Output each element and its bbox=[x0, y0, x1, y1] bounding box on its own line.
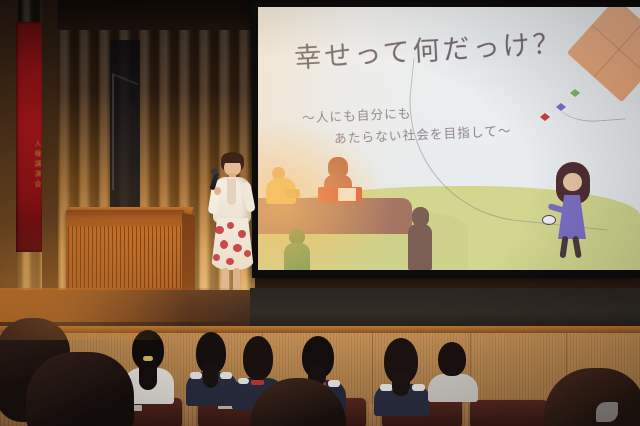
presenter-hair-front bbox=[221, 153, 244, 163]
presenter bbox=[203, 152, 259, 304]
curtain-valance bbox=[55, 0, 260, 30]
stage-floor-lit-area bbox=[0, 288, 250, 322]
audience-member bbox=[26, 352, 136, 426]
banner-text: 人権講演会 bbox=[16, 140, 42, 190]
presenter-floral-pattern bbox=[211, 220, 254, 270]
audience-member bbox=[250, 378, 348, 426]
presenter-lapel bbox=[227, 179, 236, 205]
auditorium-seat bbox=[470, 400, 548, 426]
vertical-banner: 人権講演会 bbox=[16, 22, 42, 252]
audience-member bbox=[378, 338, 424, 406]
presenter-hand bbox=[214, 187, 221, 195]
hair-clip bbox=[596, 402, 618, 422]
audience-member bbox=[544, 368, 640, 426]
audience-member bbox=[430, 342, 474, 396]
microphone-head bbox=[211, 168, 218, 175]
figure-reading-center bbox=[318, 157, 364, 211]
auditorium-photo: 人権講演会 bbox=[0, 0, 640, 426]
wall-pillar bbox=[42, 0, 58, 300]
stair-railing bbox=[112, 73, 138, 201]
podium-side-panel bbox=[182, 212, 195, 293]
projection-screen: 幸せって何だっけ？ 〜人にも自分にも あたらない社会を目指して〜 bbox=[258, 7, 640, 270]
stage-floor-shadowed bbox=[250, 288, 640, 328]
figure-silhouette bbox=[406, 207, 434, 269]
podium-slat-detail bbox=[68, 226, 182, 288]
figure-seated-reader-left bbox=[266, 167, 300, 209]
audience-member bbox=[190, 332, 232, 400]
figure-standing-child bbox=[282, 229, 312, 270]
